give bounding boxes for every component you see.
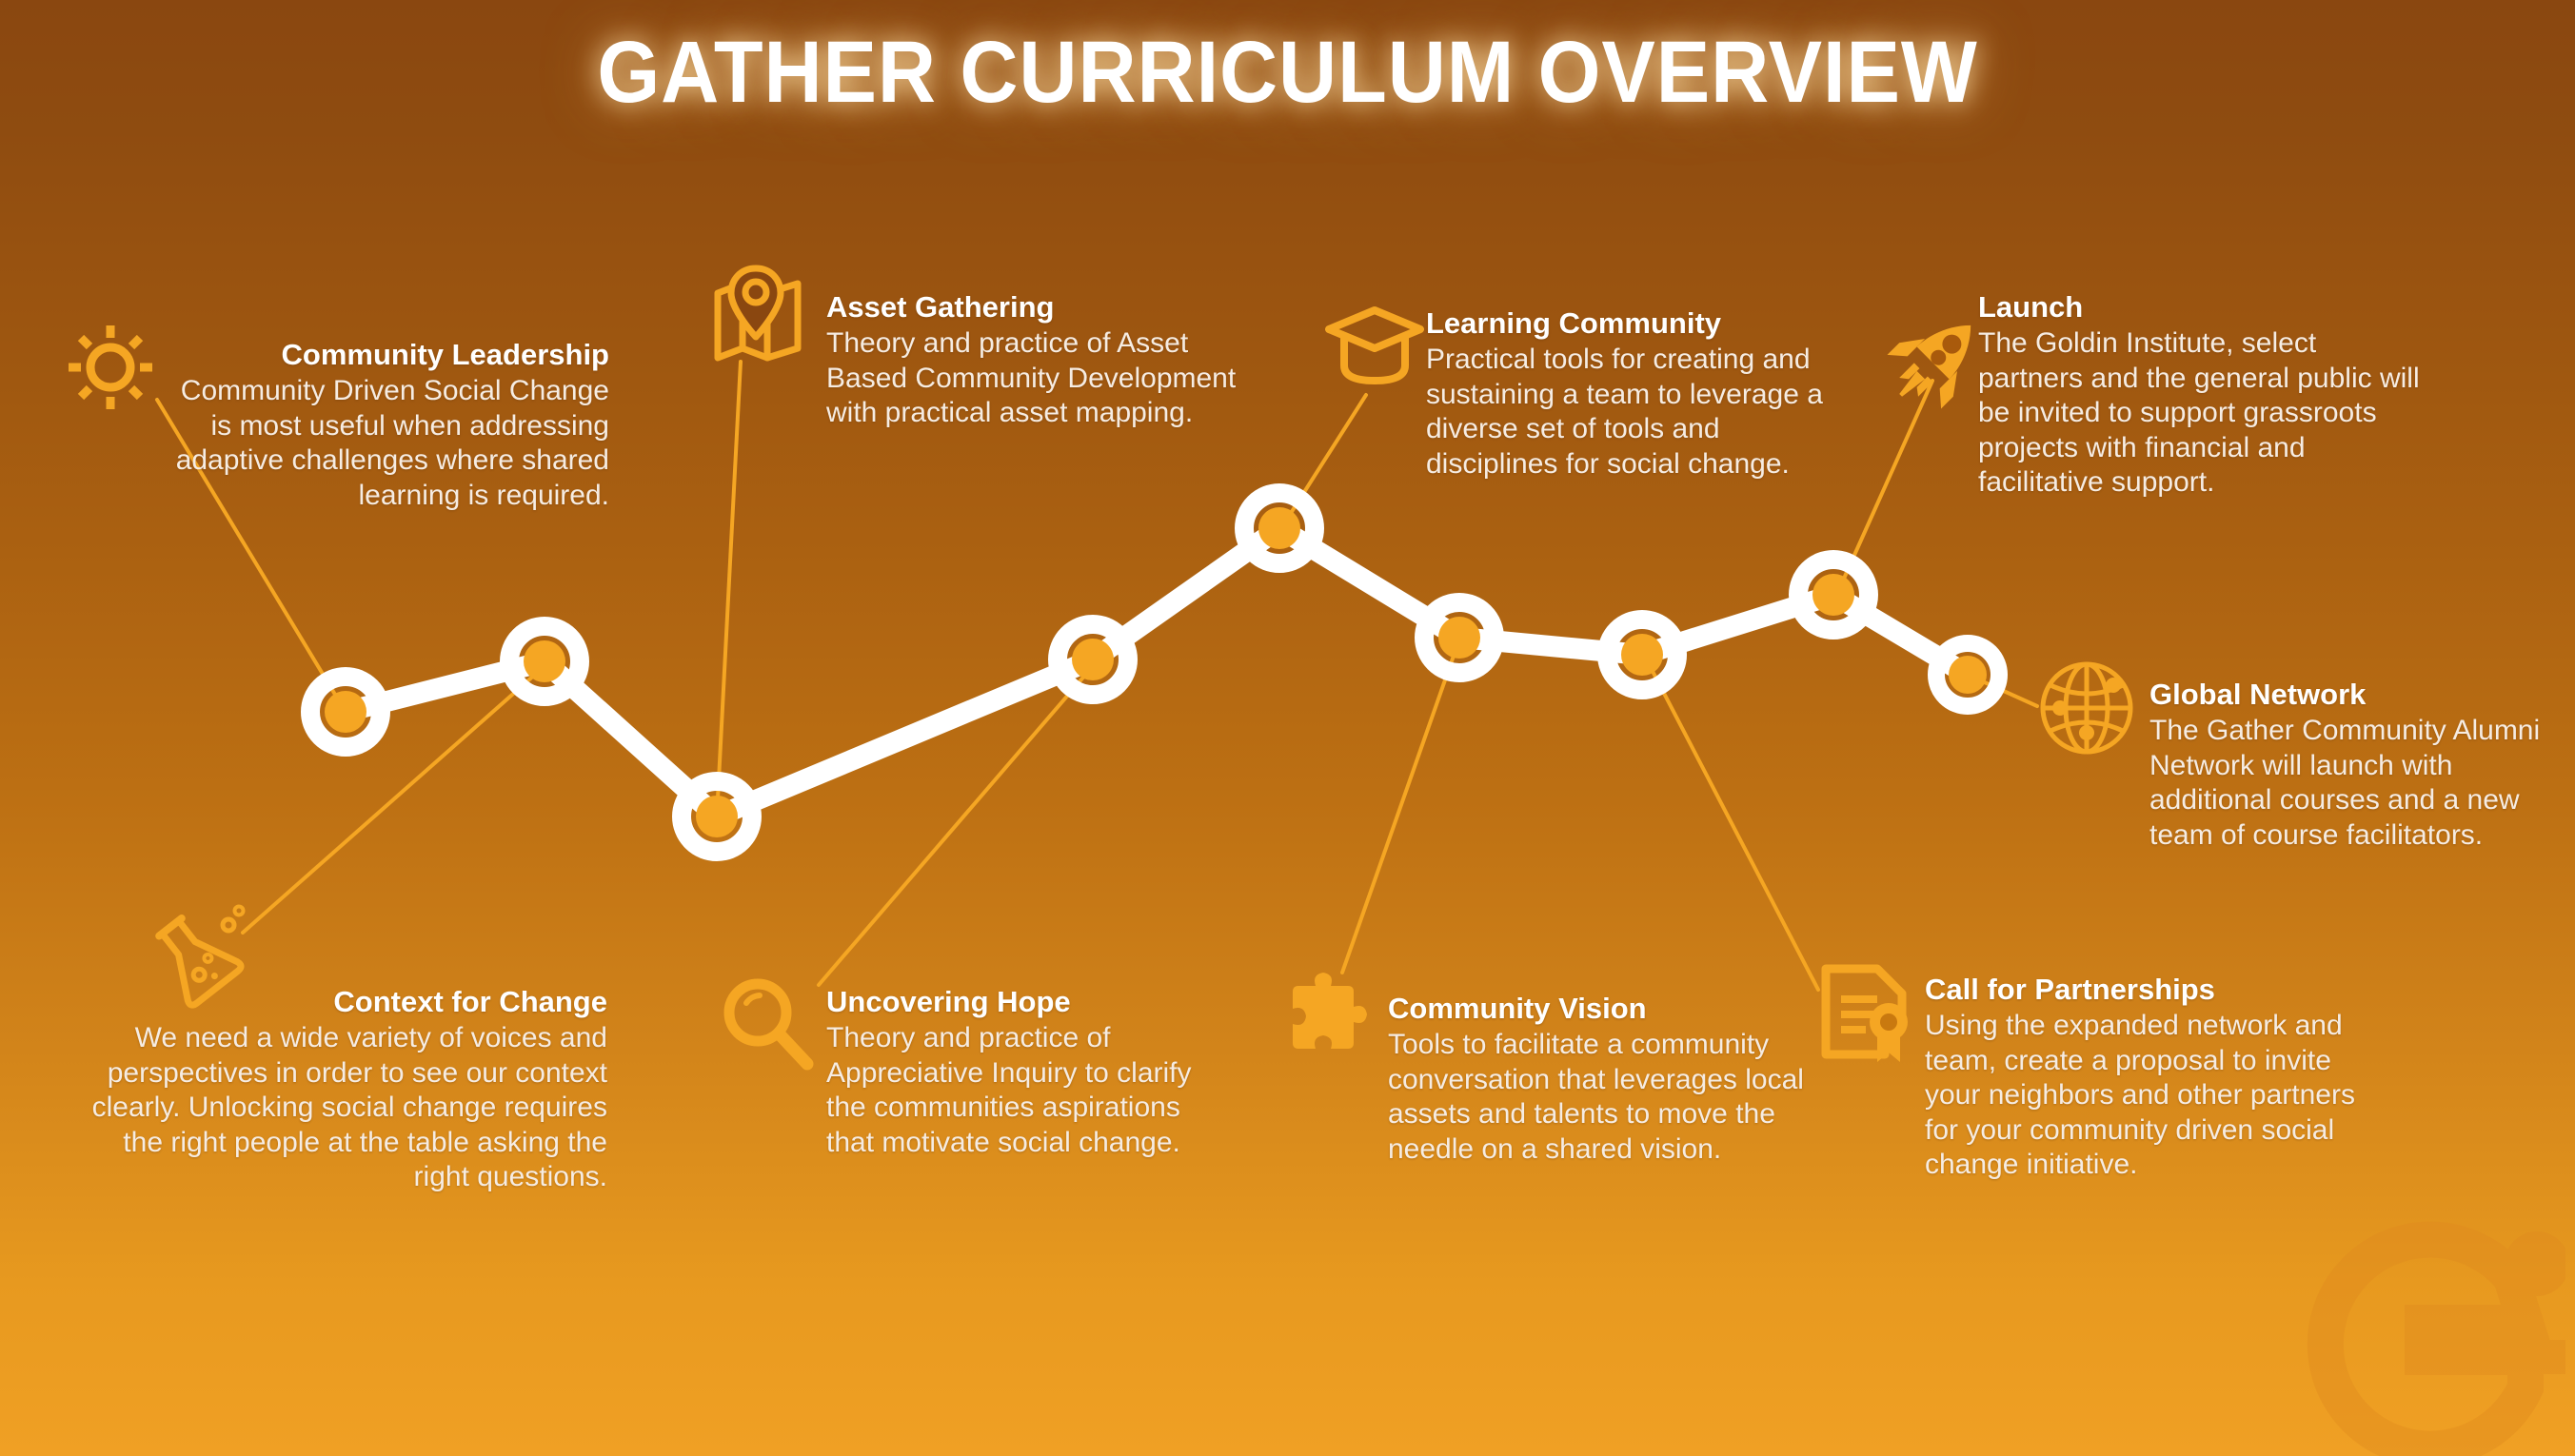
step-title-context-for-change: Context for Change: [74, 985, 607, 1019]
step-title-global-network: Global Network: [2149, 678, 2549, 712]
step-body-community-leadership: Community Driven Social Change is most u…: [162, 374, 609, 513]
step-block-launch: Launch The Goldin Institute, select part…: [1978, 290, 2426, 501]
step-block-learning-community: Learning Community Practical tools for c…: [1426, 306, 1826, 482]
graduation-cap-icon: [1325, 305, 1424, 390]
step-body-asset-gathering: Theory and practice of Asset Based Commu…: [826, 326, 1264, 431]
map-pin-icon: [708, 265, 815, 371]
step-title-asset-gathering: Asset Gathering: [826, 290, 1264, 325]
globe-network-icon: [2035, 657, 2138, 759]
step-title-community-vision: Community Vision: [1388, 992, 1807, 1026]
step-body-global-network: The Gather Community Alumni Network will…: [2149, 714, 2549, 853]
step-block-call-for-partnerships: Call for Partnerships Using the expanded…: [1925, 973, 2363, 1183]
step-title-uncovering-hope: Uncovering Hope: [826, 985, 1226, 1019]
step-body-uncovering-hope: Theory and practice of Appreciative Inqu…: [826, 1021, 1226, 1160]
step-body-community-vision: Tools to facilitate a community conversa…: [1388, 1028, 1807, 1167]
step-title-learning-community: Learning Community: [1426, 306, 1826, 341]
step-title-community-leadership: Community Leadership: [162, 338, 609, 372]
step-body-context-for-change: We need a wide variety of voices and per…: [74, 1021, 607, 1195]
infographic-canvas: GATHER CURRICULUM OVERVIEW: [0, 0, 2575, 1456]
step-block-uncovering-hope: Uncovering Hope Theory and practice of A…: [826, 985, 1226, 1160]
puzzle-piece-icon: [1274, 969, 1375, 1070]
step-block-community-vision: Community Vision Tools to facilitate a c…: [1388, 992, 1807, 1167]
step-body-learning-community: Practical tools for creating and sustain…: [1426, 343, 1826, 482]
step-block-context-for-change: Context for Change We need a wide variet…: [74, 985, 607, 1195]
certificate-icon: [1818, 963, 1917, 1066]
step-body-call-for-partnerships: Using the expanded network and team, cre…: [1925, 1009, 2363, 1183]
step-body-launch: The Goldin Institute, select partners an…: [1978, 326, 2426, 501]
rocket-icon: [1877, 305, 1991, 419]
chart-node-5: [1244, 493, 1315, 563]
chart-node-9: [1936, 643, 1999, 706]
sun-icon: [65, 322, 156, 413]
step-title-call-for-partnerships: Call for Partnerships: [1925, 973, 2363, 1007]
step-block-global-network: Global Network The Gather Community Alum…: [2149, 678, 2549, 853]
magnifier-icon: [716, 973, 819, 1075]
step-block-community-leadership: Community Leadership Community Driven So…: [162, 338, 609, 513]
step-title-launch: Launch: [1978, 290, 2426, 325]
journey-polyline: [346, 528, 1968, 817]
step-block-asset-gathering: Asset Gathering Theory and practice of A…: [826, 290, 1264, 431]
